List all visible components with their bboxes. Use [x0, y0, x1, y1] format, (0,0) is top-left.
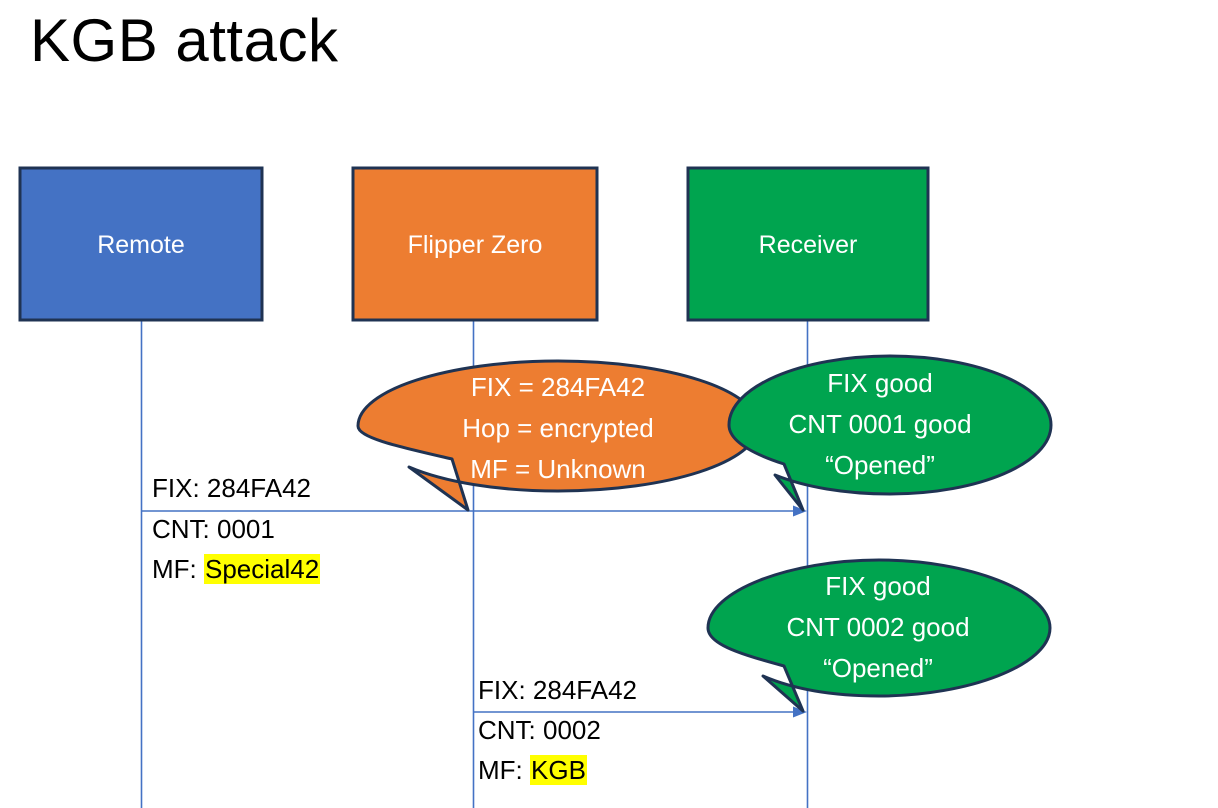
- actor-label-remote: Remote: [20, 231, 262, 260]
- callout-line-opened: “Opened”: [760, 445, 1000, 486]
- callout-text-receiver-accept-2: FIX good CNT 0002 good “Opened”: [758, 566, 998, 689]
- callout-line-fix-good: FIX good: [758, 566, 998, 607]
- callout-line-mf: MF = Unknown: [368, 449, 748, 490]
- message-1-fix-label: FIX: 284FA42: [152, 473, 311, 504]
- message-2-fix-label: FIX: 284FA42: [478, 675, 637, 706]
- message-2-mf-value: KGB: [530, 755, 587, 785]
- message-2-mf-prefix: MF:: [478, 755, 530, 785]
- callout-line-cnt-good: CNT 0002 good: [758, 607, 998, 648]
- message-2-mf-label: MF: KGB: [478, 755, 587, 786]
- actor-label-flipper-zero: Flipper Zero: [353, 231, 597, 260]
- callout-line-hop: Hop = encrypted: [368, 408, 748, 449]
- message-2-cnt-label: CNT: 0002: [478, 715, 601, 746]
- callout-line-cnt-good: CNT 0001 good: [760, 404, 1000, 445]
- actor-label-receiver: Receiver: [688, 231, 928, 260]
- message-1-mf-prefix: MF:: [152, 554, 204, 584]
- message-1-mf-value: Special42: [204, 554, 320, 584]
- callout-text-flipper-capture: FIX = 284FA42 Hop = encrypted MF = Unkno…: [368, 367, 748, 490]
- callout-line-fix: FIX = 284FA42: [368, 367, 748, 408]
- message-1-cnt-label: CNT: 0001: [152, 514, 275, 545]
- slide-canvas: KGB attack Remote Fl: [0, 0, 1218, 808]
- callout-text-receiver-accept-1: FIX good CNT 0001 good “Opened”: [760, 363, 1000, 486]
- message-1-mf-label: MF: Special42: [152, 554, 320, 585]
- callout-line-opened: “Opened”: [758, 648, 998, 689]
- callout-line-fix-good: FIX good: [760, 363, 1000, 404]
